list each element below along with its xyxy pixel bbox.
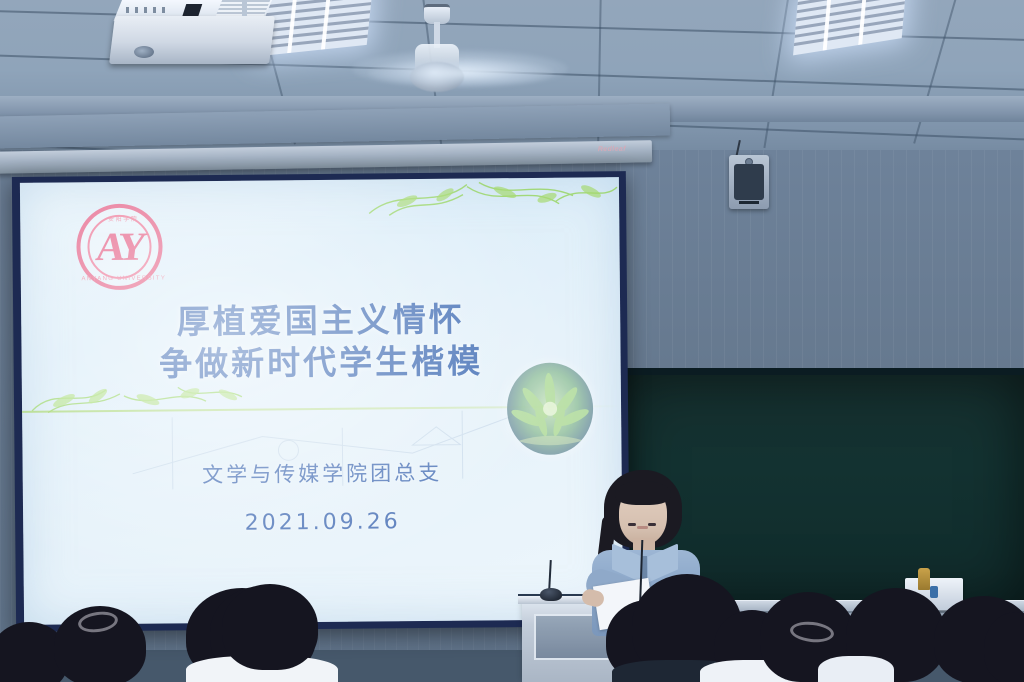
plant-illustration bbox=[507, 362, 594, 455]
audience-head bbox=[222, 584, 318, 670]
audience bbox=[0, 560, 1024, 682]
slide-date: 2021.09.26 bbox=[23, 507, 622, 538]
logo-monogram: AY bbox=[94, 227, 145, 267]
screen-brand-label: Redleaf bbox=[598, 146, 626, 153]
leaf-ornament-top bbox=[359, 177, 619, 225]
logo-arc-top-text: 安阳学院 bbox=[80, 213, 166, 223]
slide-title-line-1: 厚植爱国主义情怀 bbox=[177, 300, 465, 342]
projector-lens bbox=[134, 46, 154, 58]
audience-shirt bbox=[818, 656, 894, 682]
classroom-photo: Redleaf bbox=[0, 0, 1024, 682]
wall-speaker-icon bbox=[729, 155, 769, 209]
slide-organization: 文学与传媒学院团总支 bbox=[23, 455, 622, 491]
presenter-hair bbox=[615, 481, 671, 505]
ceiling-projector bbox=[112, 16, 282, 76]
university-logo: 安阳学院 AY ANYANG UNIVERSITY bbox=[76, 204, 163, 291]
slide: 安阳学院 AY ANYANG UNIVERSITY 厚植爱国主义情怀 争做新时代… bbox=[20, 177, 623, 625]
fluorescent-light-panel-right bbox=[793, 0, 907, 55]
logo-arc-bottom-text: ANYANG UNIVERSITY bbox=[81, 275, 167, 282]
